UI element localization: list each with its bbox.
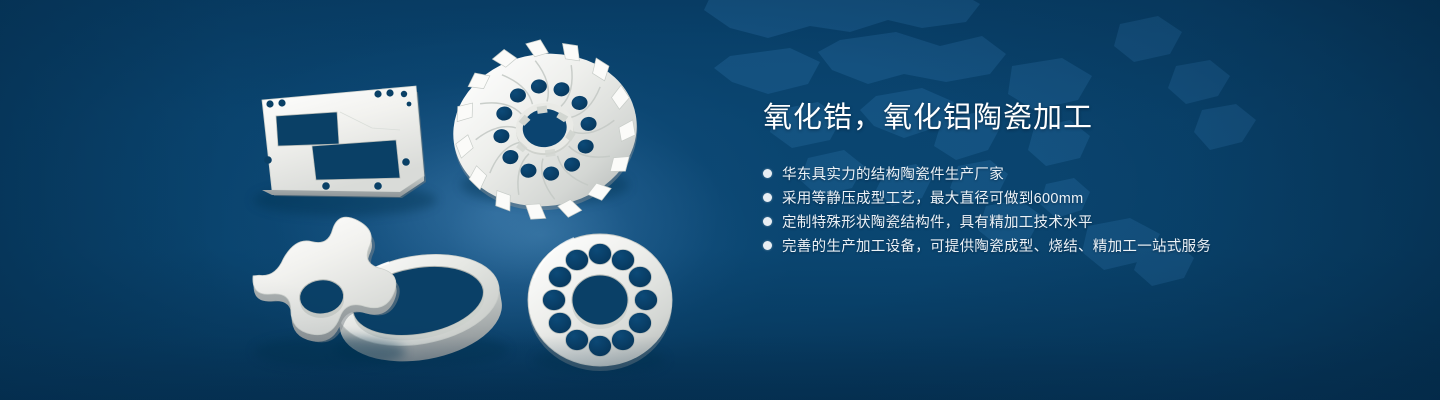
bullet-text: 华东具实力的结构陶瓷件生产厂家 [782,163,1004,184]
list-item: 定制特殊形状陶瓷结构件，具有精加工技术水平 [763,210,1323,233]
list-item: 华东具实力的结构陶瓷件生产厂家 [763,162,1323,185]
list-item: 完善的生产加工设备，可提供陶瓷成型、烧结、精加工一站式服务 [763,234,1323,257]
bullet-text: 采用等静压成型工艺，最大直径可做到600mm [782,187,1083,208]
bullet-text: 完善的生产加工设备，可提供陶瓷成型、烧结、精加工一站式服务 [782,235,1211,256]
banner-headline: 氧化锆，氧化铝陶瓷加工 [763,104,1323,133]
feature-bullet-list: 华东具实力的结构陶瓷件生产厂家 采用等静压成型工艺，最大直径可做到600mm 定… [763,162,1323,257]
banner-text-block: 氧化锆，氧化铝陶瓷加工 华东具实力的结构陶瓷件生产厂家 采用等静压成型工艺，最大… [763,104,1323,258]
bullet-dot-icon [763,241,772,250]
bullet-dot-icon [763,217,772,226]
list-item: 采用等静压成型工艺，最大直径可做到600mm [763,186,1323,209]
bullet-text: 定制特殊形状陶瓷结构件，具有精加工技术水平 [782,211,1093,232]
bullet-dot-icon [763,169,772,178]
bullet-dot-icon [763,193,772,202]
hero-banner: 氧化锆，氧化铝陶瓷加工 华东具实力的结构陶瓷件生产厂家 采用等静压成型工艺，最大… [0,0,1440,400]
background-bottom-shade [0,336,1440,400]
